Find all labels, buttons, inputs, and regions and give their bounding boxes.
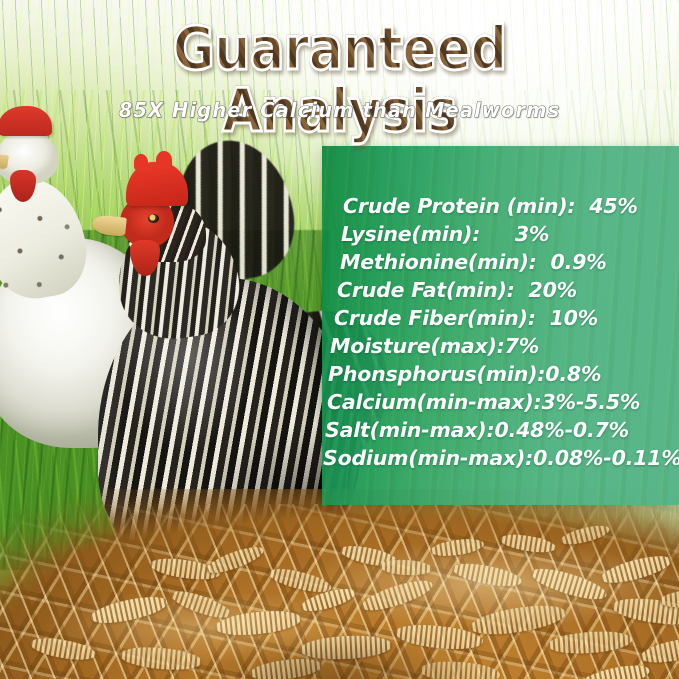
- barred-hen-comb: [126, 162, 188, 206]
- guaranteed-analysis-row: Salt(min-max):0.48%-0.7%: [325, 418, 671, 442]
- guaranteed-analysis-row: Phonsphorus(min):0.8%: [328, 362, 671, 386]
- page-subtitle: 85X Higher Calcium than Mealworms: [10, 98, 669, 122]
- guaranteed-analysis-row: Methionine(min): 0.9%: [340, 250, 671, 274]
- guaranteed-analysis-row: Lysine(min): 3%: [341, 222, 671, 246]
- guaranteed-analysis-panel: Crude Protein (min): 45%Lysine(min): 3%M…: [322, 146, 679, 505]
- page-title-text: Guaranteed Analysis: [48, 18, 632, 142]
- guaranteed-analysis-row: Crude Fiber(min): 10%: [334, 306, 671, 330]
- guaranteed-analysis-list: Crude Protein (min): 45%Lysine(min): 3%M…: [322, 146, 679, 505]
- guaranteed-analysis-row: Crude Protein (min): 45%: [343, 194, 671, 218]
- product-infographic-poster: Crude Protein (min): 45%Lysine(min): 3%M…: [0, 0, 679, 679]
- guaranteed-analysis-row: Crude Fat(min): 20%: [337, 278, 671, 302]
- barred-hen-beak: [91, 214, 127, 236]
- page-title: Guaranteed Analysis: [0, 18, 679, 88]
- guaranteed-analysis-row: Moisture(max):7%: [330, 334, 671, 358]
- guaranteed-analysis-row: Sodium(min-max):0.08%-0.11%: [323, 446, 671, 470]
- barred-hen-eye: [148, 214, 159, 223]
- guaranteed-analysis-row: Calcium(min-max):3%-5.5%: [327, 390, 671, 414]
